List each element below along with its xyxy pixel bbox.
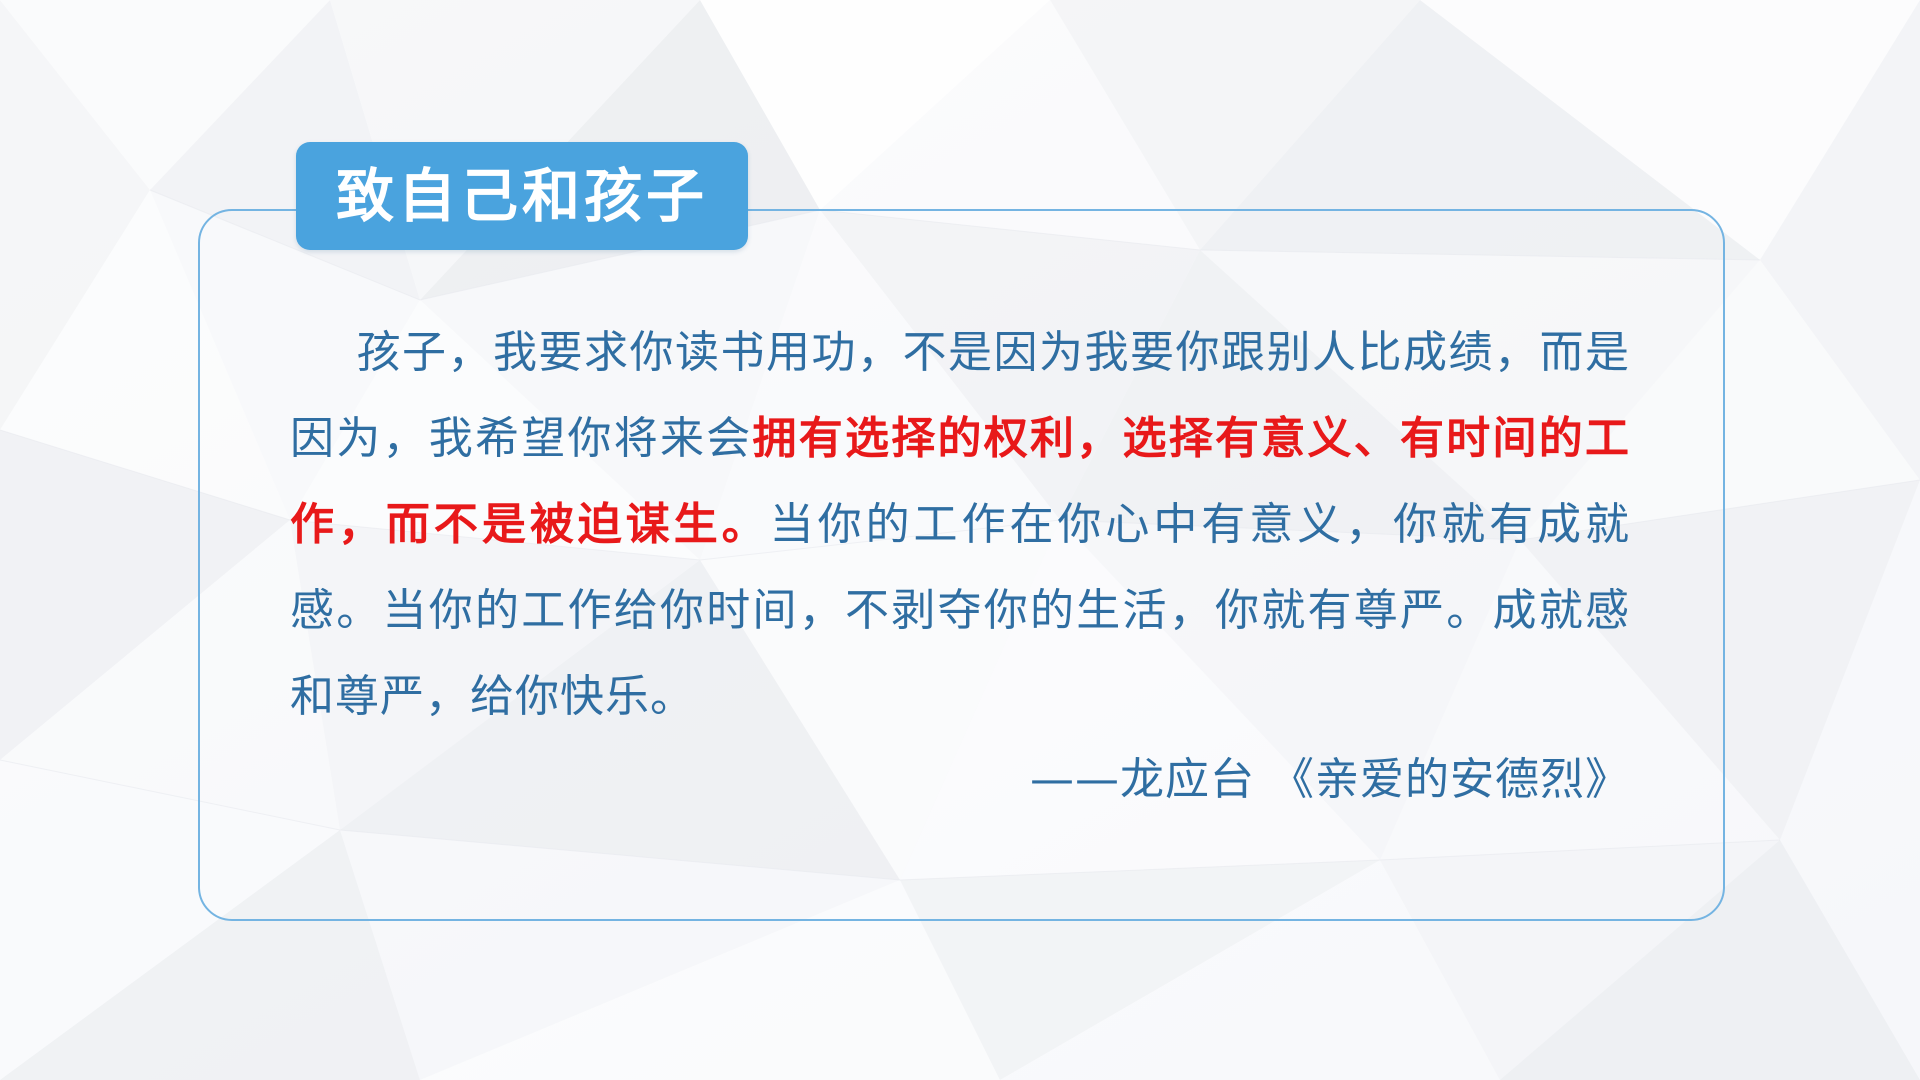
quote-paragraph: 孩子，我要求你读书用功，不是因为我要你跟别人比成绩，而是因为，我希望你将来会拥有…	[290, 310, 1630, 740]
quote-attribution: ——龙应台 《亲爱的安德烈》	[290, 745, 1630, 815]
slide-canvas: 致自己和孩子 孩子，我要求你读书用功，不是因为我要你跟别人比成绩，而是因为，我希…	[0, 0, 1920, 1080]
title-banner: 致自己和孩子	[296, 142, 748, 250]
page-title: 致自己和孩子	[336, 167, 708, 225]
quote-body: 孩子，我要求你读书用功，不是因为我要你跟别人比成绩，而是因为，我希望你将来会拥有…	[290, 310, 1630, 740]
